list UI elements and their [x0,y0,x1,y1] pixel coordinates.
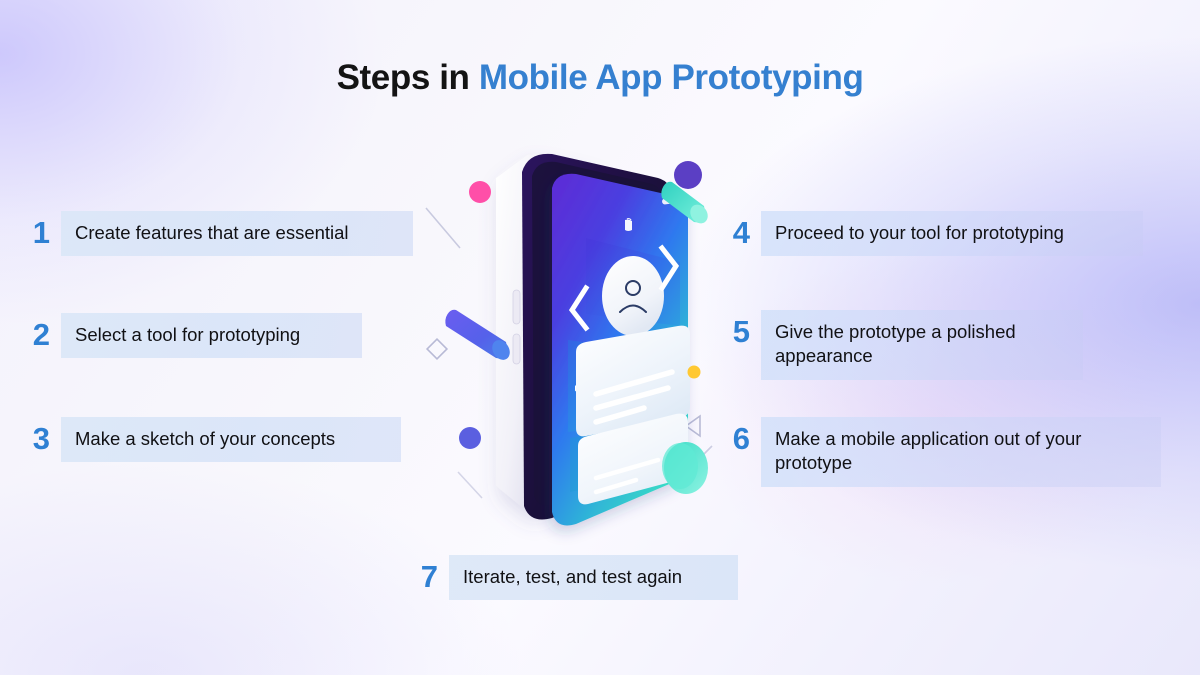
title-highlight: Mobile App Prototyping [479,58,864,97]
step-label-6: Make a mobile application out of your pr… [761,417,1161,487]
infographic-canvas: Steps in Mobile App Prototyping [0,0,1200,675]
step-item-1[interactable]: 1 Create features that are essential [24,211,413,256]
triangle-outline-icon [686,416,700,436]
step-item-3[interactable]: 3 Make a sketch of your concepts [24,417,401,462]
step-number-3: 3 [24,417,50,454]
phone-illustration [400,120,760,540]
step-item-2[interactable]: 2 Select a tool for prototyping [24,313,362,358]
step-item-6[interactable]: 6 Make a mobile application out of your … [722,417,1161,487]
step-number-1: 1 [24,211,50,248]
step-label-7: Iterate, test, and test again [449,555,738,600]
user-avatar-circle [602,256,664,336]
step-label-2: Select a tool for prototyping [61,313,362,358]
step-number-7: 7 [412,555,438,592]
step-number-5: 5 [722,310,750,347]
violet-circle [674,161,702,189]
step-number-4: 4 [722,211,750,248]
blue-dot [459,427,481,449]
title-lead: Steps in [337,58,479,97]
diamond-outline-icon [427,339,447,359]
step-number-6: 6 [722,417,750,454]
page-title: Steps in Mobile App Prototyping [0,58,1200,98]
step-label-5: Give the prototype a polished appearance [761,310,1083,380]
step-label-4: Proceed to your tool for prototyping [761,211,1143,256]
yellow-dot [688,366,701,379]
step-item-5[interactable]: 5 Give the prototype a polished appearan… [722,310,1083,380]
step-item-7[interactable]: 7 Iterate, test, and test again [412,555,738,600]
step-label-1: Create features that are essential [61,211,413,256]
teal-cylinder-bottom [662,442,708,494]
step-label-3: Make a sketch of your concepts [61,417,401,462]
step-number-2: 2 [24,313,50,350]
lock-icon [625,219,632,231]
pink-dot [469,181,491,203]
step-item-4[interactable]: 4 Proceed to your tool for prototyping [722,211,1143,256]
